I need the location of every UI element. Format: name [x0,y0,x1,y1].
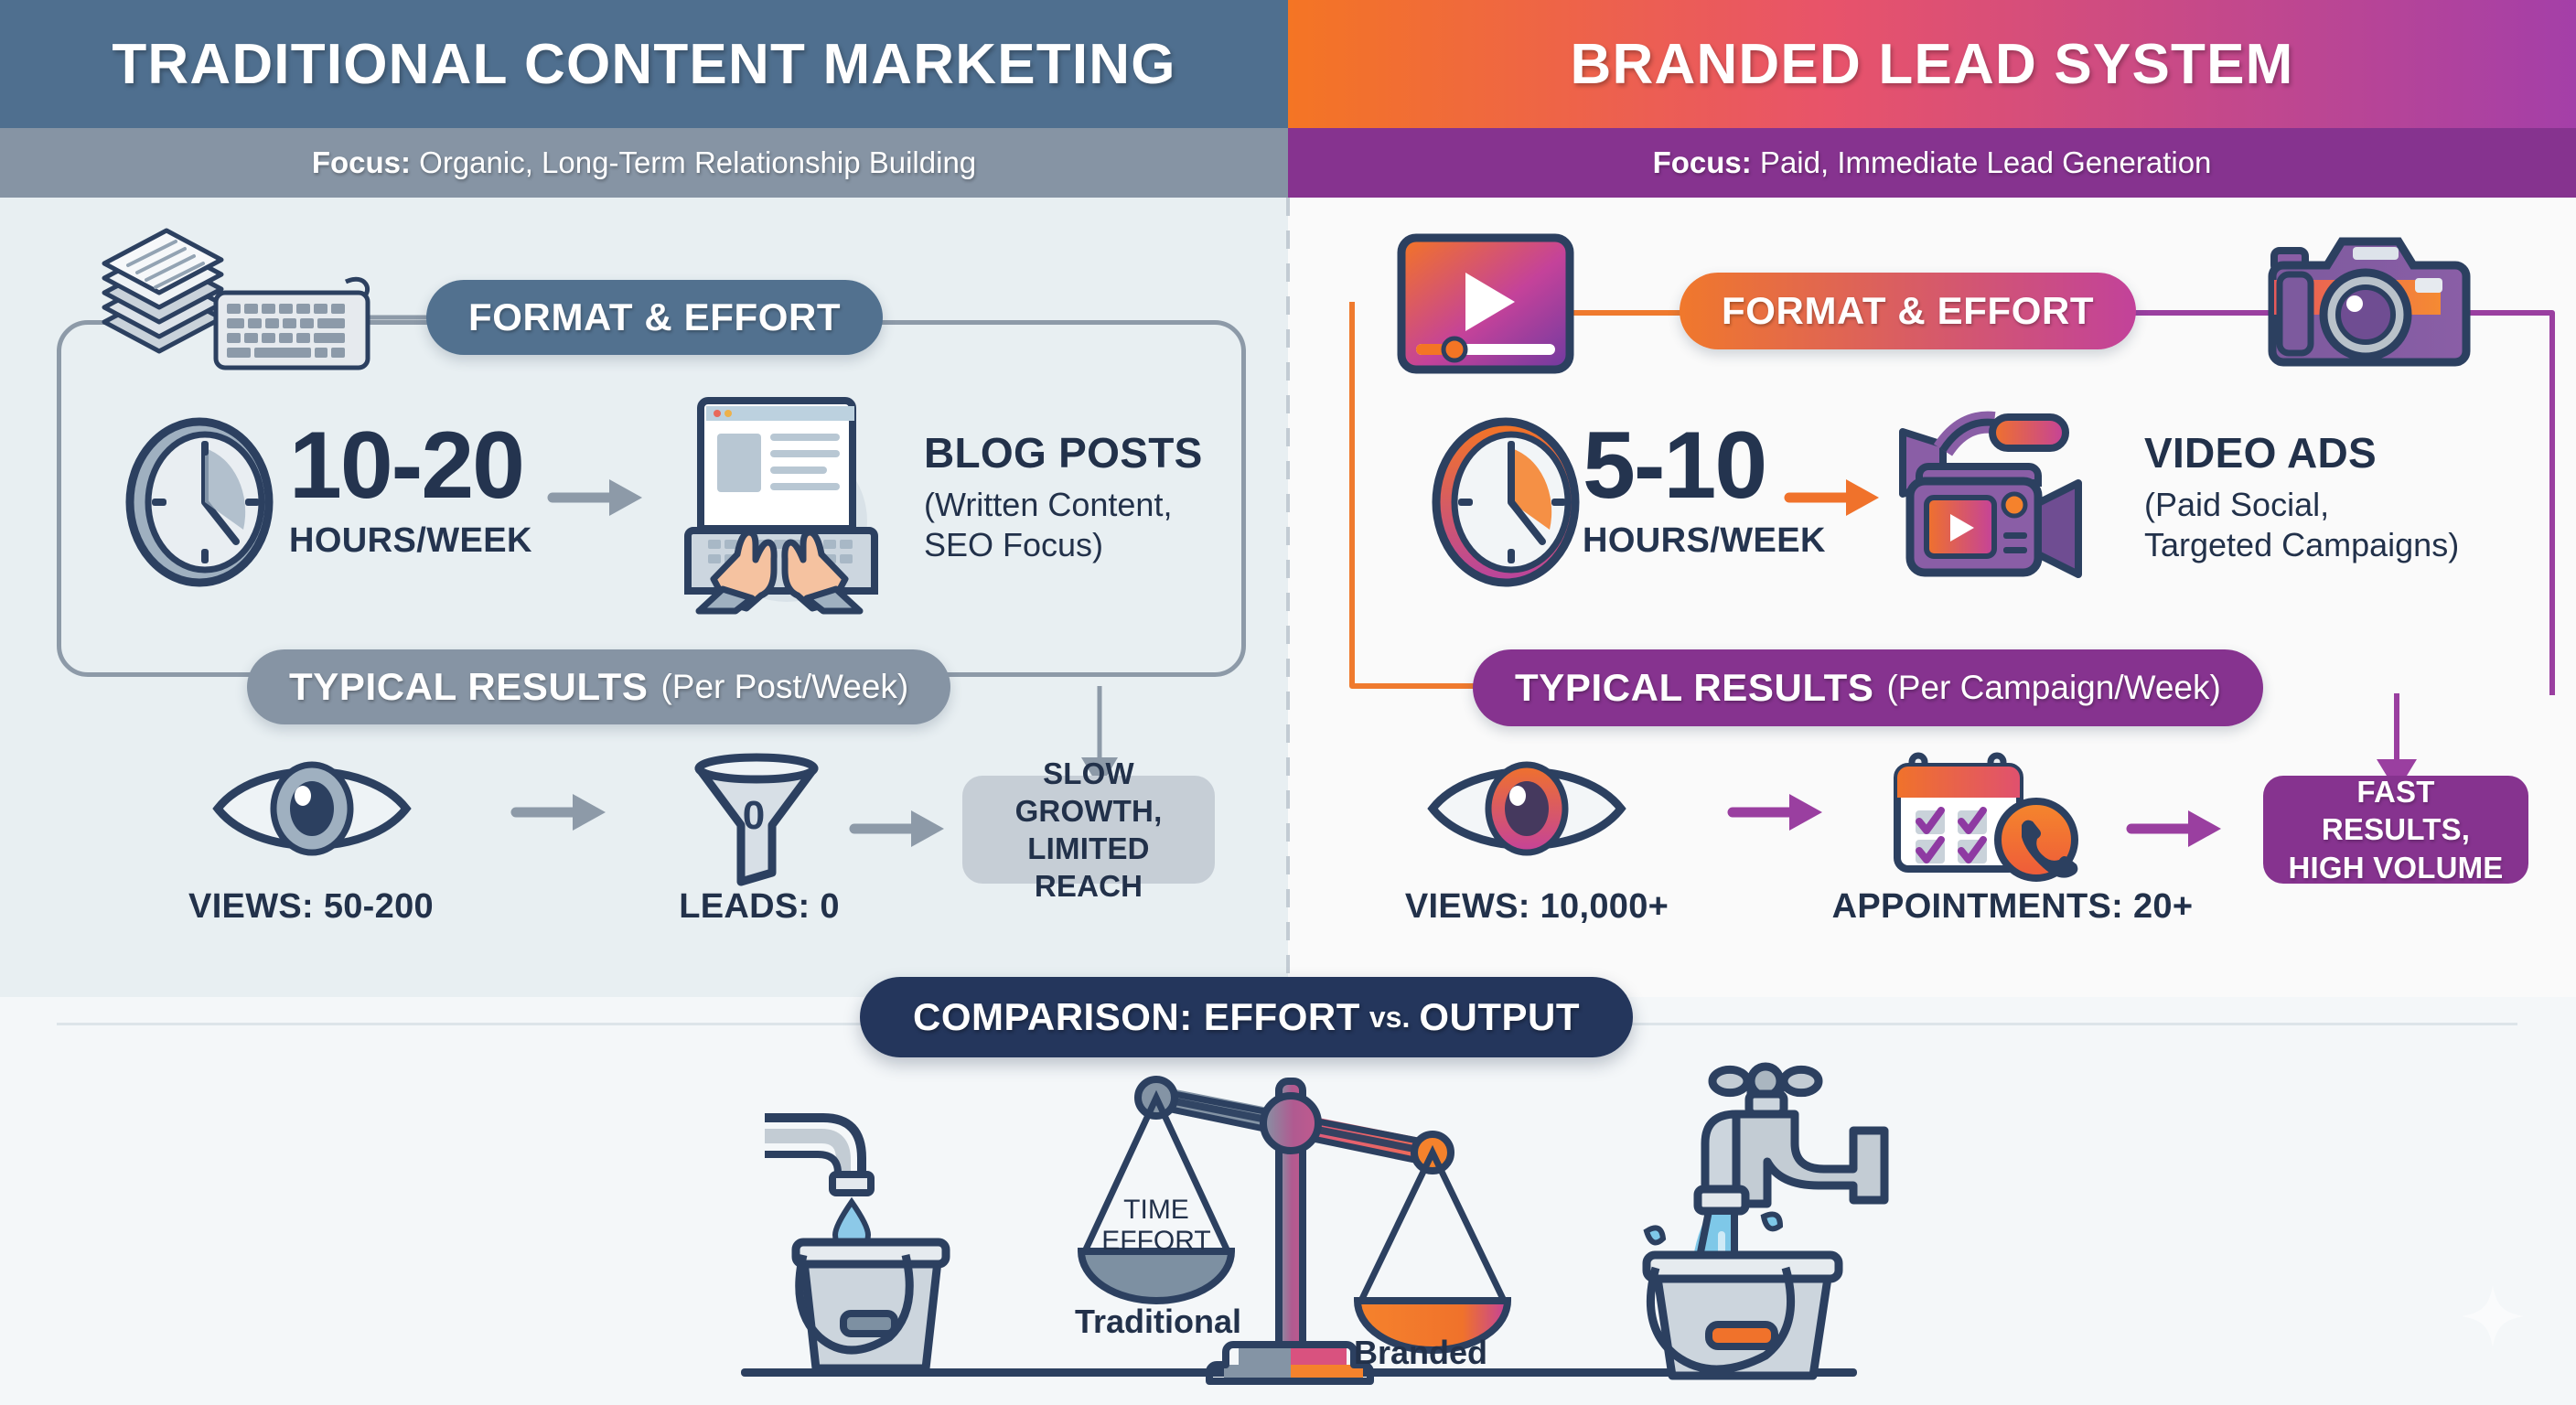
right-typical-results-pill[interactable]: TYPICAL RESULTS (Per Campaign/Week) [1473,649,2263,726]
left-outcome-line-2: LIMITED REACH [986,830,1191,906]
scale-pan-left-line-2: EFFORT [1101,1226,1210,1256]
left-subheader: Focus: Organic, Long-Term Relationship B… [0,128,1288,198]
right-outcome-line-1: FAST RESULTS, [2287,773,2505,849]
right-results-label: TYPICAL RESULTS [1515,666,1873,710]
sparkle-icon [2461,1284,2525,1348]
left-header-title: TRADITIONAL CONTENT MARKETING [112,32,1175,97]
right-format-text-block: VIDEO ADS (Paid Social, Targeted Campaig… [2144,428,2547,565]
left-header: TRADITIONAL CONTENT MARKETING [0,0,1288,128]
arrow-right-icon [851,805,948,853]
right-metric-appointments: APPOINTMENTS: 20+ [1775,887,2250,927]
left-format-sub-2: SEO Focus) [924,525,1253,565]
right-header: BRANDED LEAD SYSTEM [1288,0,2576,128]
right-metric-views: VIEWS: 10,000+ [1372,887,1701,927]
right-format-effort-pill[interactable]: FORMAT & EFFORT [1680,273,2136,349]
arrow-right-icon [2128,805,2225,853]
clock-icon [1423,415,1588,589]
right-subheader: Focus: Paid, Immediate Lead Generation [1288,128,2576,198]
left-format-text-block: BLOG POSTS (Written Content, SEO Focus) [924,428,1253,565]
scale-label-traditional: Traditional [1075,1303,1241,1341]
flowing-faucet-bucket-icon [1603,1061,1969,1381]
arrow-right-icon [512,788,609,836]
laptop-typing-icon [660,384,898,613]
funnel-icon: 0 [688,754,825,889]
camera-icon [2258,234,2477,390]
comparison-banner-vs: vs. [1369,1001,1410,1035]
scale-pan-left-line-1: TIME [1123,1195,1189,1225]
right-outcome-line-2: HIGH VOLUME [2288,849,2503,886]
right-hours-label: HOURS/WEEK [1583,521,1826,561]
funnel-value: 0 [743,793,765,838]
right-results-note: (Per Campaign/Week) [1886,669,2220,707]
calendar-phone-icon [1888,743,2089,889]
left-outcome-box: SLOW GROWTH, LIMITED REACH [962,776,1215,884]
left-metric-leads: LEADS: 0 [640,887,878,927]
left-hours-label: HOURS/WEEK [289,521,532,561]
dripping-pipe-bucket-icon [748,1098,1041,1372]
right-outcome-box: FAST RESULTS, HIGH VOLUME [2263,776,2528,884]
arrow-right-icon [1786,474,1883,521]
right-hours-value: 5-10 [1583,423,1766,510]
left-outcome-line-1: SLOW GROWTH, [986,755,1191,831]
infographic-canvas: TRADITIONAL CONTENT MARKETING BRANDED LE… [0,0,2576,1405]
keyboard-icon [209,267,382,377]
right-focus-value: Paid, Immediate Lead Generation [1752,145,2212,179]
video-camera-icon [1877,404,2111,584]
left-format-sub-1: (Written Content, [924,485,1253,525]
left-format-effort-pill[interactable]: FORMAT & EFFORT [426,280,883,355]
arrow-right-icon [1729,788,1826,836]
left-hours-value: 10-20 [289,423,523,510]
arrow-right-icon [549,474,646,521]
eye-icon [1425,754,1628,863]
right-format-sub-2: Targeted Campaigns) [2144,525,2547,565]
right-format-title: VIDEO ADS [2144,428,2547,477]
comparison-banner-tail: OUTPUT [1419,995,1580,1039]
panel-divider [1286,198,1290,1003]
left-format-title: BLOG POSTS [924,428,1253,477]
right-header-title: BRANDED LEAD SYSTEM [1571,32,2294,97]
right-format-effort-label: FORMAT & EFFORT [1722,289,2094,333]
left-results-label: TYPICAL RESULTS [289,665,648,709]
right-format-sub-1: (Paid Social, [2144,485,2547,525]
left-format-effort-label: FORMAT & EFFORT [468,295,841,339]
left-typical-results-pill[interactable]: TYPICAL RESULTS (Per Post/Week) [247,649,950,724]
eye-icon [210,754,413,863]
clock-icon [117,415,282,589]
left-metric-views: VIEWS: 50-200 [165,887,457,927]
comparison-banner-main: COMPARISON: EFFORT [913,995,1360,1039]
left-focus-label: Focus: [312,145,411,179]
left-focus-value: Organic, Long-Term Relationship Building [411,145,976,179]
right-focus-label: Focus: [1653,145,1752,179]
left-results-note: (Per Post/Week) [660,668,908,706]
video-player-icon [1394,231,1577,377]
comparison-banner[interactable]: COMPARISON: EFFORT vs. OUTPUT [860,977,1633,1057]
scale-label-branded: Branded [1354,1334,1487,1372]
